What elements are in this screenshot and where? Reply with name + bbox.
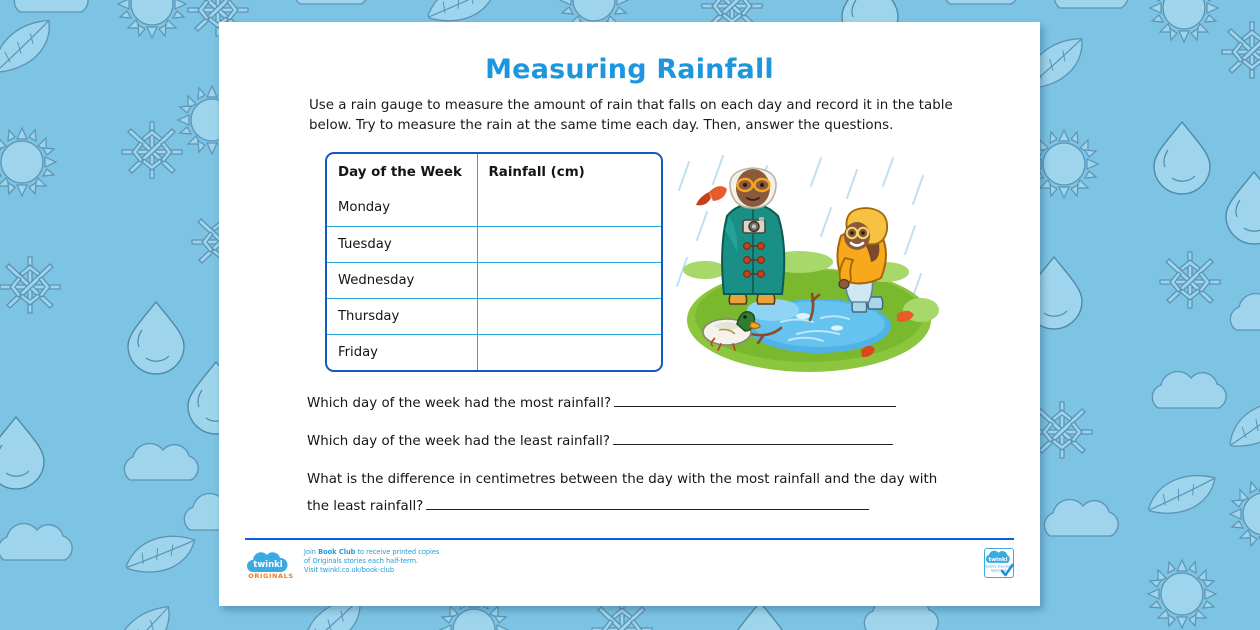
cell-rainfall-monday[interactable] [477,190,661,226]
promo-line-3[interactable]: Visit twinkl.co.uk/book-club [304,566,439,575]
promo-line-1: Join Book Club to receive printed copies [304,548,439,557]
twinkl-logo-text: twinkl [253,560,283,570]
column-header-rainfall: Rainfall (cm) [477,154,661,190]
rainy-day-illustration [671,154,943,376]
footer-divider [245,538,1014,540]
answer-line-1[interactable] [614,394,896,407]
table-row: Wednesday [327,262,661,298]
cell-rainfall-friday[interactable] [477,334,661,370]
question-1: Which day of the week had the most rainf… [307,390,957,417]
twinkl-quality-standard-badge: twinkl Quality Standard Approved [984,548,1014,578]
page-footer: twinkl ORIGINALS Join Book Club to recei… [245,546,1014,594]
cell-rainfall-wednesday[interactable] [477,262,661,298]
desktop-background: Measuring Rainfall Use a rain gauge to m… [0,0,1260,630]
worksheet-page: Measuring Rainfall Use a rain gauge to m… [219,22,1040,606]
page-title: Measuring Rainfall [219,54,1040,85]
question-3: What is the difference in centimetres be… [307,466,957,520]
questions-section: Which day of the week had the most rainf… [307,390,957,520]
answer-line-3[interactable] [426,497,869,510]
cell-day-thursday: Thursday [327,298,477,334]
book-club-promo: Join Book Club to receive printed copies… [304,548,439,575]
table-row: Friday [327,334,661,370]
promo-suffix: to receive printed copies [355,548,439,556]
twinkl-originals-logo: twinkl ORIGINALS [245,550,301,580]
instructions-paragraph: Use a rain gauge to measure the amount o… [309,96,955,135]
question-1-text: Which day of the week had the most rainf… [307,396,611,411]
cell-day-monday: Monday [327,190,477,226]
cell-day-tuesday: Tuesday [327,226,477,262]
question-2: Which day of the week had the least rain… [307,428,957,455]
cell-rainfall-thursday[interactable] [477,298,661,334]
promo-bold: Book Club [318,548,355,556]
badge-brand-text: twinkl [988,557,1007,563]
column-header-day: Day of the Week [327,154,477,190]
promo-prefix: Join [304,548,318,556]
rainfall-table-container: Day of the Week Rainfall (cm) Monday Tue… [325,152,663,372]
promo-line-2: of Originals stories each half-term. [304,557,439,566]
cell-day-wednesday: Wednesday [327,262,477,298]
rainfall-table: Day of the Week Rainfall (cm) Monday Tue… [327,154,661,370]
cell-rainfall-tuesday[interactable] [477,226,661,262]
question-2-text: Which day of the week had the least rain… [307,434,610,449]
table-row: Thursday [327,298,661,334]
table-header-row: Day of the Week Rainfall (cm) [327,154,661,190]
table-row: Monday [327,190,661,226]
answer-line-2[interactable] [613,432,893,445]
cell-day-friday: Friday [327,334,477,370]
table-row: Tuesday [327,226,661,262]
badge-line-1: Quality Standard [985,565,1012,569]
originals-logo-text: ORIGINALS [248,572,293,580]
adult-figure [722,168,784,304]
